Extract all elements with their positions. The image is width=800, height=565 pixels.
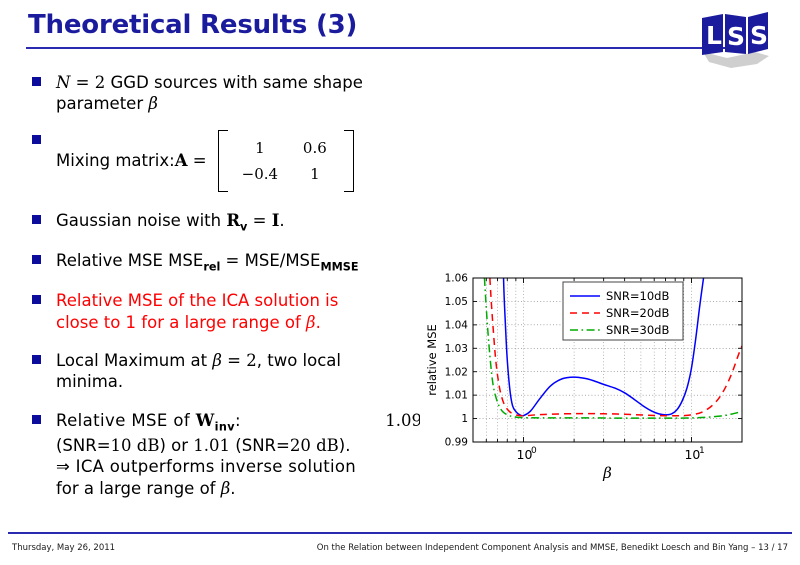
legend-label: SNR=20dB [606, 306, 669, 320]
logo-letter-s2: S [750, 21, 768, 50]
footer-reference: On the Relation between Independent Comp… [317, 543, 788, 553]
x-axis-label: β [602, 464, 612, 482]
bullet-marker-icon [32, 135, 41, 144]
bullet-marker-icon [32, 77, 41, 86]
logo-shadow [703, 52, 769, 68]
winv-period: . [230, 479, 235, 498]
bullet-marker-icon [32, 215, 41, 224]
bullet-item-local-maximum: Local Maximum at β = 2, two local minima… [30, 350, 422, 393]
bullet-marker-icon [32, 415, 41, 424]
winv-symbol: W [196, 411, 215, 430]
winv-beta: β [221, 479, 231, 498]
svg-text:0: 0 [531, 446, 537, 456]
bullet-item-gaussian-noise: Gaussian noise with Rv = I. [30, 210, 422, 235]
logo-letter-s1: S [727, 22, 745, 51]
matrix-cell-r0c1: 0.6 [289, 135, 341, 161]
winv-close: ). [339, 436, 351, 455]
localmax-eq: = 2 [222, 351, 257, 370]
logo-letter-l: L [706, 21, 722, 50]
y-tick-label: 1.06 [445, 273, 469, 285]
bullet-item-sources: N = 2 GGD sources with same shape parame… [30, 72, 422, 115]
winv-sub: inv [215, 420, 235, 433]
footer-divider [8, 532, 792, 534]
ica-period: . [316, 313, 321, 332]
y-tick-label: 1.04 [445, 319, 469, 331]
localmax-suffix: , two local [257, 351, 341, 370]
y-tick-label: 1.02 [445, 366, 468, 378]
gauss-prefix: Gaussian noise with [56, 211, 226, 230]
mixing-matrix-equals: = [188, 150, 212, 171]
relmse-sub-rel: rel [203, 261, 220, 274]
winv-line4a: for a large range of [56, 479, 221, 498]
bullet-text-ica-close-to-one: Relative MSE of the ICA solution is clos… [56, 290, 422, 333]
svg-text:1: 1 [699, 446, 705, 456]
winv-line1-left: Relative MSE of Winv: [56, 410, 241, 435]
y-tick-label: 0.99 [445, 437, 468, 449]
ica-beta: β [306, 313, 316, 332]
legend-label: SNR=30dB [606, 323, 669, 337]
localmax-line2: minima. [56, 372, 123, 391]
relative-mse-chart: 0.9911.011.021.031.041.051.06100101βrela… [420, 262, 782, 490]
ica-line-2a: close to 1 for a large range of [56, 313, 306, 332]
matrix-cell-r0c0: 1 [231, 135, 289, 161]
bullet-text-gaussian-noise: Gaussian noise with Rv = I. [56, 211, 285, 230]
winv-value-2: 1.01 [193, 436, 230, 455]
bullet-list: N = 2 GGD sources with same shape parame… [30, 72, 422, 514]
bracket-right [344, 130, 354, 193]
footer-date: Thursday, May 26, 2011 [12, 543, 115, 553]
relmse-prefix: Relative MSE MSE [56, 251, 203, 270]
y-tick-label: 1 [461, 413, 468, 425]
bullet-item-relative-mse-def: Relative MSE MSErel = MSE/MSEMMSE [30, 250, 422, 275]
chart-legend: SNR=10dBSNR=20dBSNR=30dB [563, 282, 683, 340]
y-tick-label: 1.05 [445, 296, 468, 308]
y-tick-label: 1.03 [445, 343, 468, 355]
winv-snr1-prefix: (SNR= [56, 436, 111, 455]
title-divider [26, 47, 726, 49]
chart-svg: 0.9911.011.021.031.041.051.06100101βrela… [420, 262, 782, 490]
legend-label: SNR=10dB [606, 289, 669, 303]
winv-snr1: 10 dB [111, 436, 160, 455]
lss-logo: L S S [697, 8, 773, 70]
mixing-matrix-brackets: 1 0.6 −0.4 1 [218, 130, 354, 193]
winv-or: ) or [159, 436, 193, 455]
y-axis-label: relative MSE [425, 324, 439, 396]
winv-value-1: 1.09 [385, 410, 422, 435]
matrix-cells: 1 0.6 −0.4 1 [228, 130, 344, 193]
mixing-matrix-symbol: A [175, 150, 188, 171]
bullet-text-relative-mse-def: Relative MSE MSErel = MSE/MSEMMSE [56, 251, 359, 270]
y-tick-label: 1.01 [445, 390, 468, 402]
bullet-item-ica-close-to-one: Relative MSE of the ICA solution is clos… [30, 290, 422, 333]
lss-logo-svg: L S S [697, 8, 773, 70]
bullet-marker-icon [32, 255, 41, 264]
bullet-marker-icon [32, 295, 41, 304]
relmse-sub-mmse: MMSE [320, 261, 358, 274]
winv-snr2: 20 dB [290, 436, 339, 455]
localmax-prefix: Local Maximum at [56, 351, 212, 370]
matrix-cell-r1c0: −0.4 [231, 161, 289, 187]
bullet-item-relative-mse-winv: Relative MSE of Winv: 1.09 (SNR=10 dB) o… [30, 410, 422, 499]
relmse-mid: = MSE/MSE [220, 251, 320, 270]
winv-line2: (SNR=10 dB) or 1.01 (SNR=20 dB). [56, 436, 350, 455]
mixing-matrix-label: Mixing matrix: [56, 150, 175, 171]
localmax-beta: β [212, 351, 222, 370]
slide: Theoretical Results (3) L S S N = 2 GGD … [0, 0, 800, 565]
bullet-marker-icon [32, 355, 41, 364]
bracket-left [218, 130, 228, 193]
winv-colon: : [235, 411, 241, 430]
ica-line-1: Relative MSE of the ICA solution is [56, 291, 338, 310]
bullet-text-sources: N = 2 GGD sources with same shape parame… [56, 73, 363, 113]
winv-line3: ⇒ ICA outperforms inverse solution [56, 457, 356, 476]
matrix-cell-r1c1: 1 [289, 161, 341, 187]
mixing-matrix-row: Mixing matrix: A = 1 0.6 −0.4 1 [56, 130, 422, 193]
winv-snr2-prefix: (SNR= [230, 436, 290, 455]
page-title: Theoretical Results (3) [28, 10, 357, 40]
bullet-text-local-maximum: Local Maximum at β = 2, two local minima… [56, 350, 422, 393]
winv-prefix: Relative MSE of [56, 411, 196, 430]
bullet-item-mixing-matrix: Mixing matrix: A = 1 0.6 −0.4 1 [30, 130, 422, 193]
bullet-text-relative-mse-winv: Relative MSE of Winv: 1.09 (SNR=10 dB) o… [56, 410, 422, 499]
